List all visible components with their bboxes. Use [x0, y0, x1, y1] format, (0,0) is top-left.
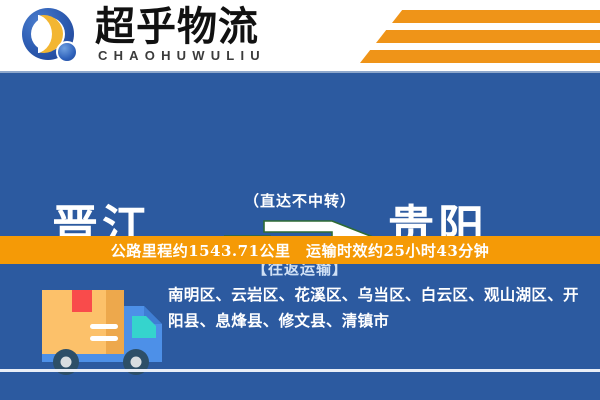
stripe-3: [360, 50, 600, 63]
header-bar: 超乎物流 CHAOHUWULIU: [0, 0, 600, 73]
distance-duration-text: 公路里程约1543.71公里 运输时效约25小时43分钟: [111, 240, 490, 261]
brand-name-en: CHAOHUWULIU: [98, 48, 266, 63]
coverage-districts-text: 南明区、云岩区、花溪区、乌当区、白云区、观山湖区、开阳县、息烽县、修文县、清镇市: [168, 282, 586, 334]
brand-name-cn: 超乎物流: [95, 6, 259, 48]
logistics-route-poster: 超乎物流 CHAOHUWULIU （直达不中转） 晋江 贵阳 【往返运输】 公路…: [0, 0, 600, 400]
logo-accent-dot: [56, 41, 78, 63]
bottom-divider: [0, 369, 600, 372]
distance-duration-bar: 公路里程约1543.71公里 运输时效约25小时43分钟: [0, 236, 600, 264]
stripe-1: [392, 10, 600, 23]
coverage-section: 南明区、云岩区、花溪区、乌当区、白云区、观山湖区、开阳县、息烽县、修文县、清镇市: [0, 264, 600, 400]
stripe-2: [376, 30, 600, 43]
circle-crescent-logo-icon: [22, 8, 84, 66]
delivery-truck-icon: [36, 280, 170, 376]
route-panel: （直达不中转） 晋江 贵阳 【往返运输】: [0, 73, 600, 236]
orange-stripes-decoration: [330, 8, 600, 65]
